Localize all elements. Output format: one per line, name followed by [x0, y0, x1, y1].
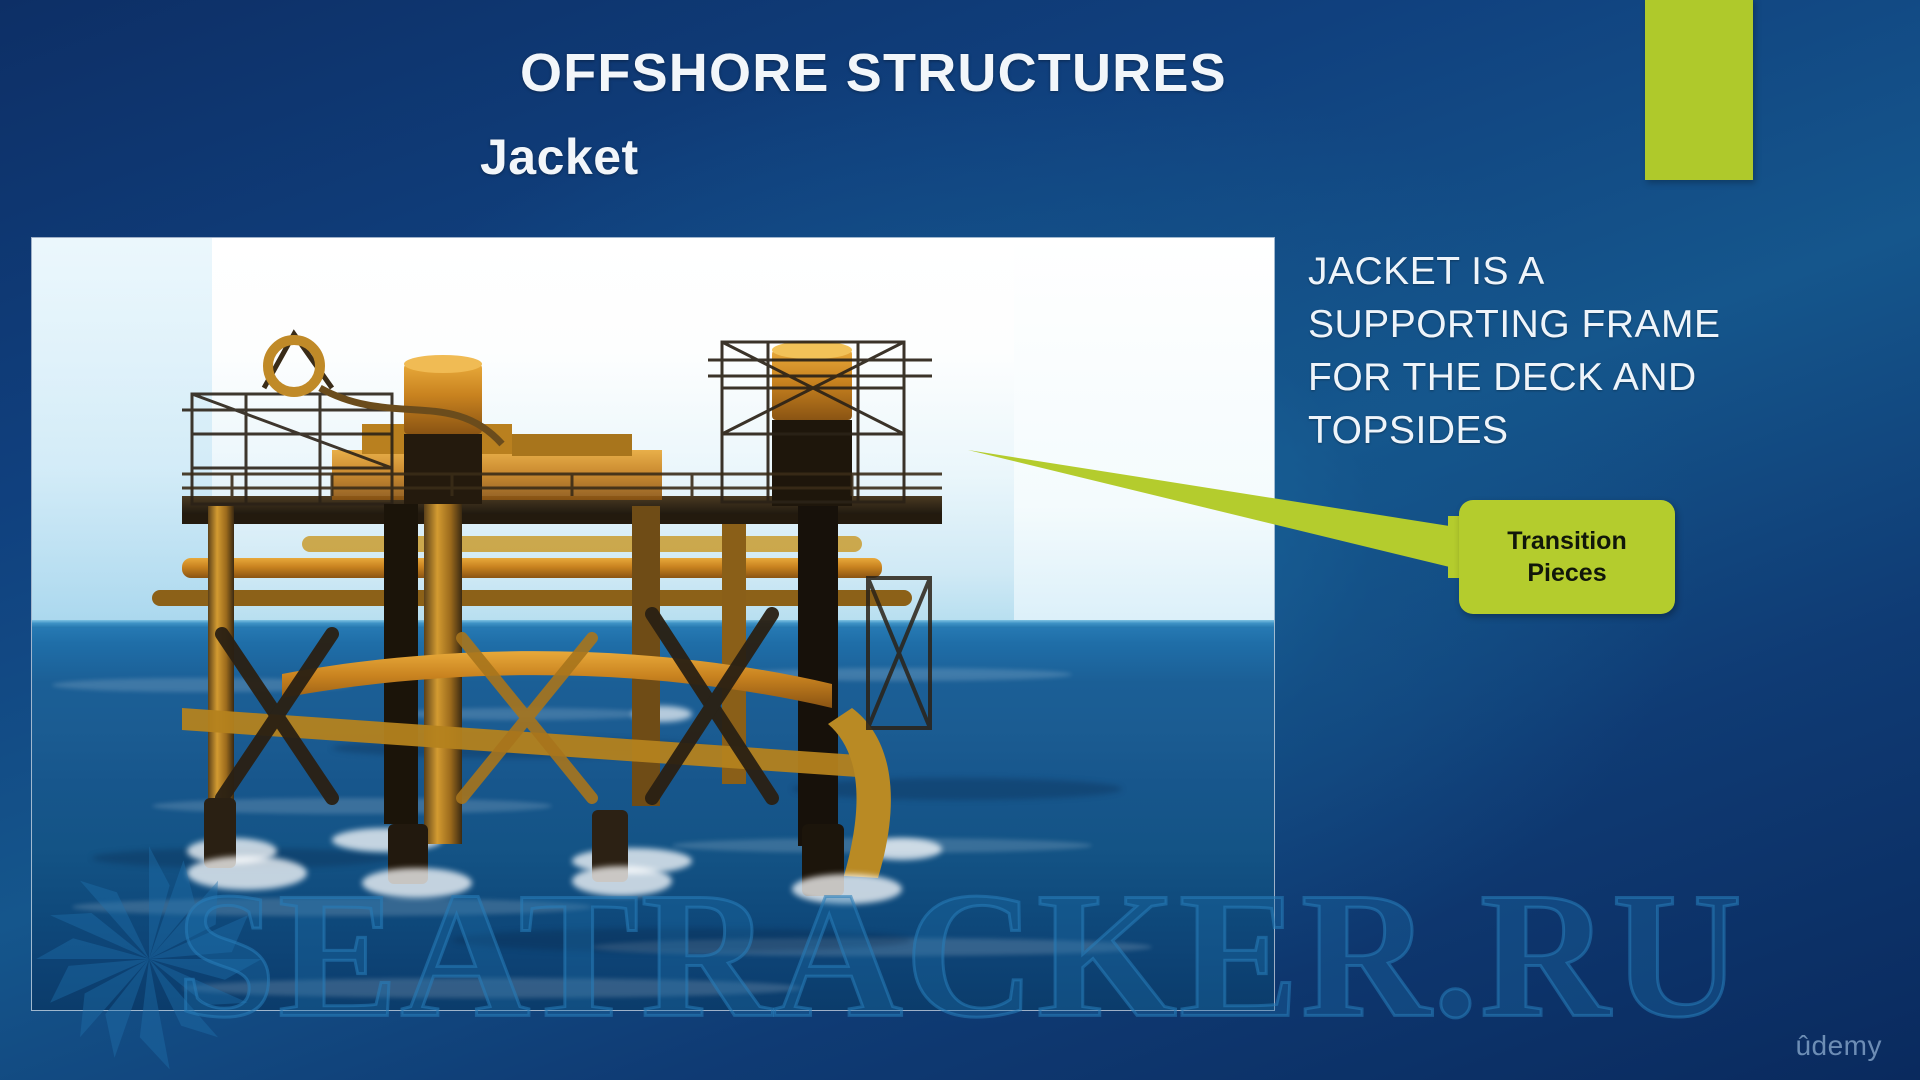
body-text: JACKET IS A SUPPORTING FRAME FOR THE DEC…: [1308, 245, 1778, 457]
platform-photo: [32, 238, 1274, 1010]
page-subtitle: Jacket: [480, 128, 639, 186]
udemy-logo: ûdemy: [1795, 1030, 1882, 1062]
splash-foam: [362, 868, 472, 898]
splash-foam: [572, 866, 672, 896]
accent-bar-decoration: [1645, 0, 1753, 180]
photo-content: [32, 238, 1274, 1010]
transition-pieces-callout: Transition Pieces: [1459, 500, 1675, 614]
splash-foam: [187, 856, 307, 890]
callout-line-2: Pieces: [1527, 559, 1606, 587]
callout-label: Transition Pieces: [1507, 525, 1626, 589]
page-title: OFFSHORE STRUCTURES: [520, 42, 1227, 104]
presentation-slide: OFFSHORE STRUCTURES Jacket JACKET IS A S…: [0, 0, 1920, 1080]
splash-foam: [792, 874, 902, 904]
callout-line-1: Transition: [1507, 527, 1626, 555]
offshore-platform-structure: [32, 238, 1274, 1010]
